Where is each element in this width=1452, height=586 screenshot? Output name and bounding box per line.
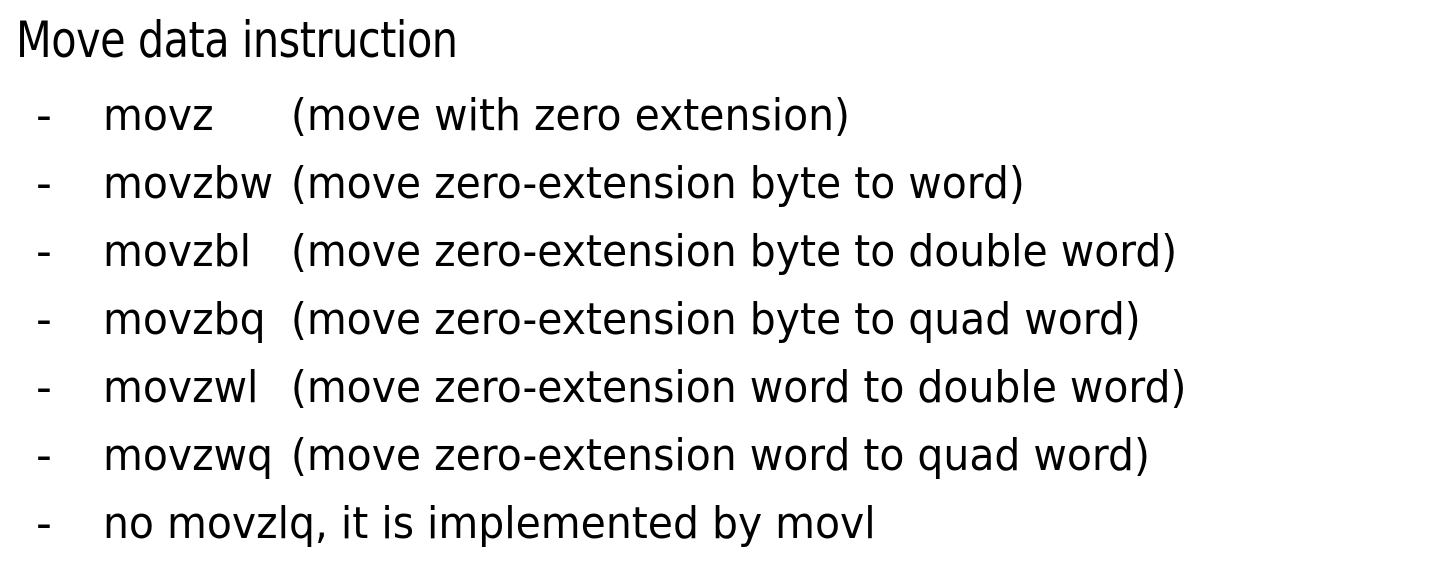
list-item: - movzwl(move zero-extension word to dou… <box>0 360 1452 428</box>
list-item-content: movzwl(move zero-extension word to doubl… <box>103 360 1186 416</box>
list-item: - movzwq(move zero-extension word to qua… <box>0 428 1452 496</box>
instruction-mnemonic: movzbw <box>103 156 291 212</box>
instruction-description: (move with zero extension) <box>291 88 850 144</box>
instruction-description: (move zero-extension byte to double word… <box>291 224 1177 280</box>
bullet-dash-icon: - <box>36 224 62 280</box>
instruction-mnemonic: movzbl <box>103 224 291 280</box>
instruction-mnemonic: movzwq <box>103 428 291 484</box>
bullet-dash-icon: - <box>36 428 62 484</box>
instruction-mnemonic: movzbq <box>103 292 291 348</box>
bullet-dash-icon: - <box>36 496 62 552</box>
list-item-content: movz(move with zero extension) <box>103 88 850 144</box>
list-item: - movz(move with zero extension) <box>0 88 1452 156</box>
list-item: - movzbl(move zero-extension byte to dou… <box>0 224 1452 292</box>
bullet-dash-icon: - <box>36 292 62 348</box>
slide-canvas: Move data instruction - movz(move with z… <box>0 0 1452 586</box>
bullet-dash-icon: - <box>36 88 62 144</box>
list-item: - no movzlq, it is implemented by movl <box>0 496 1452 564</box>
page-title: Move data instruction <box>16 10 458 70</box>
instruction-description: (move zero-extension byte to quad word) <box>291 292 1141 348</box>
instruction-description: (move zero-extension byte to word) <box>291 156 1025 212</box>
bullet-dash-icon: - <box>36 360 62 416</box>
list-item-content: no movzlq, it is implemented by movl <box>103 496 876 552</box>
list-item: - movzbq(move zero-extension byte to qua… <box>0 292 1452 360</box>
list-item-content: movzbl(move zero-extension byte to doubl… <box>103 224 1177 280</box>
bullet-list: - movz(move with zero extension) - movzb… <box>0 88 1452 564</box>
list-item-content: movzbq(move zero-extension byte to quad … <box>103 292 1141 348</box>
instruction-mnemonic: movz <box>103 88 291 144</box>
list-item-content: movzbw(move zero-extension byte to word) <box>103 156 1025 212</box>
bullet-dash-icon: - <box>36 156 62 212</box>
instruction-mnemonic: no movzlq, it is implemented by movl <box>103 496 876 552</box>
list-item-content: movzwq(move zero-extension word to quad … <box>103 428 1150 484</box>
instruction-description: (move zero-extension word to quad word) <box>291 428 1150 484</box>
instruction-description: (move zero-extension word to double word… <box>291 360 1187 416</box>
instruction-mnemonic: movzwl <box>103 360 291 416</box>
list-item: - movzbw(move zero-extension byte to wor… <box>0 156 1452 224</box>
